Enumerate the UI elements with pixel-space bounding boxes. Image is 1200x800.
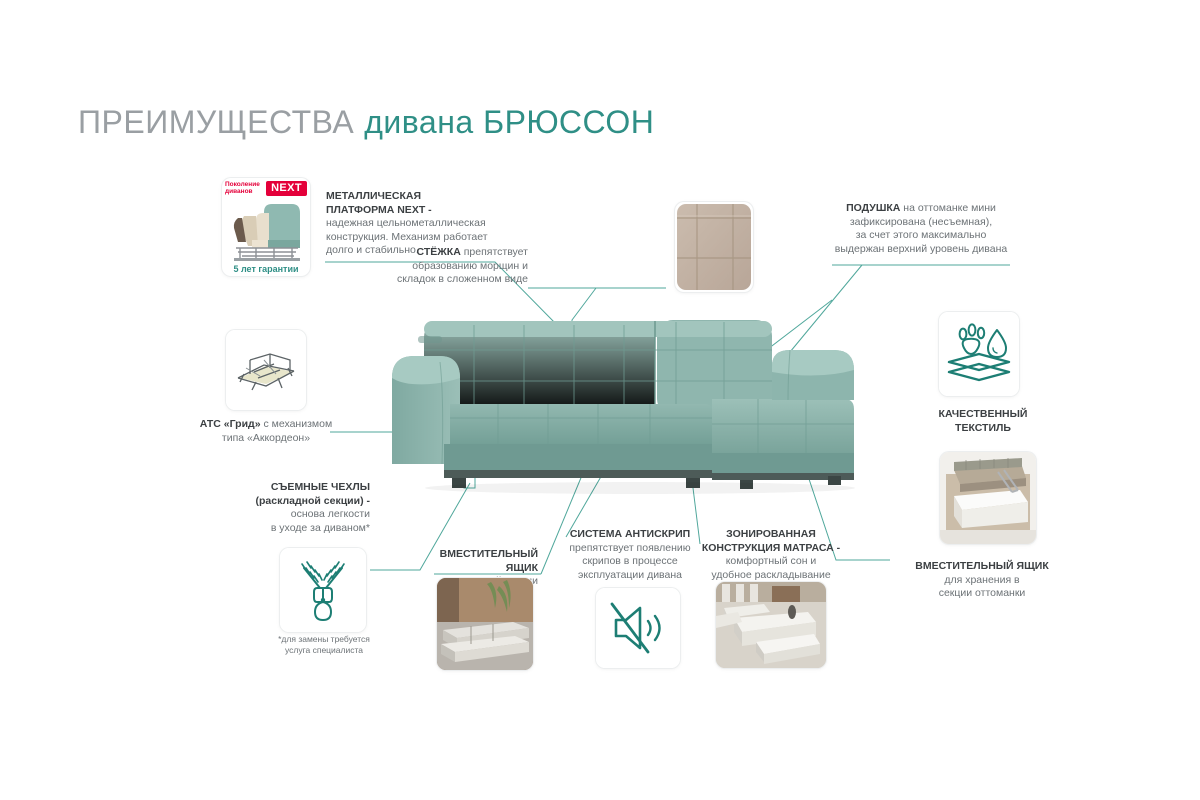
badge-line1: Поколение	[225, 181, 260, 188]
feature-platform-body1: надежная цельнометаллическая	[326, 217, 506, 231]
removable-covers-card	[280, 548, 366, 632]
atc-grid-card	[226, 330, 306, 410]
feature-pillow-body2: зафиксирована (несъемная),	[830, 216, 1012, 230]
feature-antisqueak-body1: препятствует появлению	[560, 542, 700, 556]
feature-antisqueak-heading: СИСТЕМА АНТИСКРИП	[560, 528, 700, 542]
feature-drawer-ottoman-heading: ВМЕСТИТЕЛЬНЫЙ ЯЩИК	[902, 560, 1062, 574]
feature-drawer-ottoman-body2: секции оттоманки	[902, 587, 1062, 601]
feature-mattress-text: ЗОНИРОВАННАЯ КОНСТРУКЦИЯ МАТРАСА - комфо…	[700, 528, 842, 582]
zipper-icon	[280, 548, 366, 632]
feature-covers-footnote2: услуга специалиста	[266, 645, 382, 656]
feature-pillow-body4: выдержан верхний уровень дивана	[830, 243, 1012, 257]
feature-platform-body2: конструкция. Механизм работает	[326, 231, 506, 245]
feature-antisqueak-body3: эксплуатации дивана	[560, 569, 700, 583]
feature-atc-body1: с механизмом	[263, 418, 332, 430]
feature-quilting-text: СТЁЖКА препятствует образованию морщин и…	[360, 246, 528, 287]
feature-quilting-heading: СТЁЖКА	[417, 246, 461, 258]
feature-quilting-body1: препятствует	[464, 246, 528, 258]
feature-covers-footnote1: *для замены требуется	[266, 634, 382, 645]
storage-drawer-image	[437, 578, 533, 670]
quilted-panel-image	[675, 202, 753, 292]
unfolded-sofa-image	[716, 582, 826, 668]
feature-atc-heading: АТС «Грид»	[200, 418, 261, 430]
mute-speaker-icon	[596, 588, 680, 668]
feature-covers-heading1: СЪЕМНЫЕ ЧЕХЛЫ	[236, 481, 370, 495]
feature-drawer-ottoman-caption: ВМЕСТИТЕЛЬНЫЙ ЯЩИК для хранения в секции…	[902, 560, 1062, 601]
badge-next-label: NEXT	[266, 181, 307, 196]
feature-covers-body1: основа легкости	[236, 508, 370, 522]
feature-covers-footnote: *для замены требуется услуга специалиста	[266, 634, 382, 656]
quilting-swatch	[675, 202, 753, 292]
page-title-accent: дивана БРЮССОН	[364, 104, 654, 140]
feature-textile-heading1: КАЧЕСТВЕННЫЙ	[915, 408, 1051, 422]
antisqueak-card	[596, 588, 680, 668]
badge-line2: диванов	[225, 188, 253, 195]
feature-antisqueak-body2: скрипов в процессе	[560, 555, 700, 569]
feature-mattress-body1: комфортный сон и	[700, 555, 842, 569]
next-generation-badge: Поколение диванов NEXT 5 лет гаранти	[222, 178, 310, 276]
feature-pillow-body3: за счет этого максимально	[830, 229, 1012, 243]
feature-platform-heading2: ПЛАТФОРМА NEXT -	[326, 204, 506, 218]
sofa-drawer-photo	[437, 578, 533, 670]
feature-platform-heading: МЕТАЛЛИЧЕСКАЯ	[326, 190, 506, 204]
feature-atc-body2: типа «Аккордеон»	[196, 432, 336, 446]
badge-generation-label: Поколение диванов	[225, 181, 260, 196]
feature-drawer-ottoman-body1: для хранения в	[902, 574, 1062, 588]
feature-atc-caption: АТС «Грид» с механизмом типа «Аккордеон»	[196, 418, 336, 445]
page-title-main: ПРЕИМУЩЕСТВА	[78, 104, 354, 140]
feature-pillow-text: ПОДУШКА на оттоманке мини зафиксирована …	[830, 202, 1012, 256]
mattress-photo	[716, 582, 826, 668]
feature-mattress-heading1: ЗОНИРОВАННАЯ	[700, 528, 842, 542]
feature-covers-heading2: (раскладной секции) -	[236, 495, 370, 509]
feature-textile-heading2: ТЕКСТИЛЬ	[915, 422, 1051, 436]
textile-quality-card	[939, 312, 1019, 396]
ottoman-storage-image	[940, 452, 1036, 544]
accordion-mechanism-icon	[226, 330, 306, 410]
feature-mattress-heading2: КОНСТРУКЦИЯ МАТРАСА -	[700, 542, 842, 556]
feature-pillow-body1: на оттоманке мини	[903, 202, 996, 214]
feature-drawer-sofa-heading: ВМЕСТИТЕЛЬНЫЙ ЯЩИК	[410, 548, 538, 575]
feature-pillow-heading: ПОДУШКА	[846, 202, 900, 214]
paw-waterdrop-fabric-icon	[939, 312, 1019, 396]
feature-quilting-body2: образованию морщин и	[360, 260, 528, 274]
infographic-canvas: ПРЕИМУЩЕСТВАдивана БРЮССОН	[0, 0, 1200, 800]
feature-covers-text: СЪЕМНЫЕ ЧЕХЛЫ (раскладной секции) - осно…	[236, 481, 370, 535]
feature-textile-caption: КАЧЕСТВЕННЫЙ ТЕКСТИЛЬ	[915, 408, 1051, 435]
ottoman-drawer-photo	[940, 452, 1036, 544]
page-title: ПРЕИМУЩЕСТВАдивана БРЮССОН	[78, 104, 654, 141]
feature-covers-body2: в уходе за диваном*	[236, 522, 370, 536]
badge-warranty-label: 5 лет гарантии	[222, 264, 310, 274]
feature-antisqueak-text: СИСТЕМА АНТИСКРИП препятствует появлению…	[560, 528, 700, 582]
feature-mattress-body2: удобное раскладывание	[700, 569, 842, 583]
feature-quilting-body3: складок в сложенном виде	[360, 273, 528, 287]
